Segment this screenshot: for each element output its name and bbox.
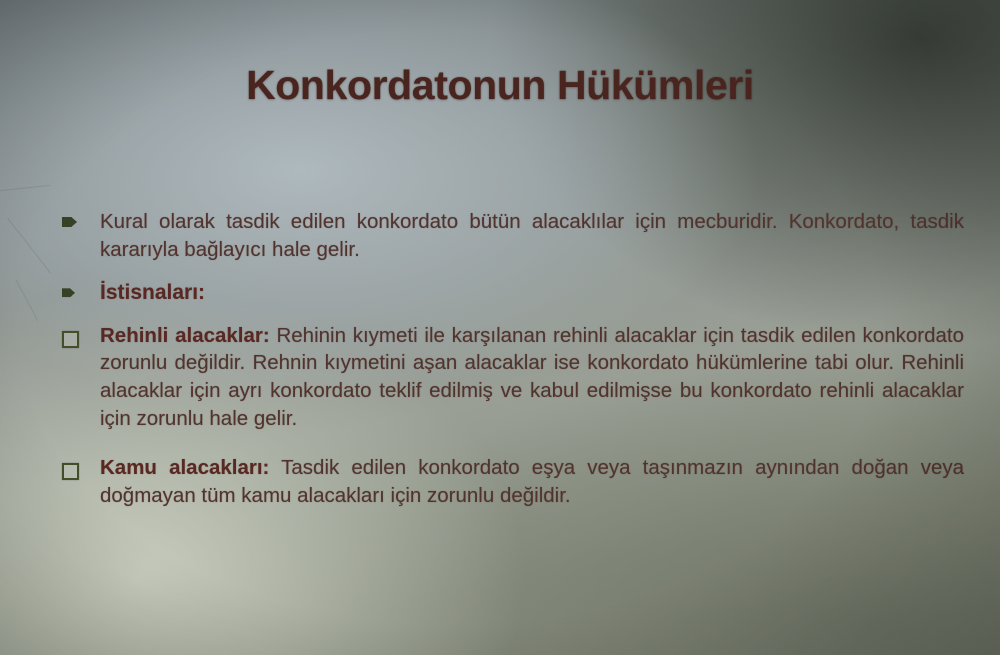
projected-slide-photo: Konkordatonun Hükümleri Kural olarak tas… [0,0,1000,655]
bullet-item-public-claims: Kamu alacakları: Tasdik edilen konkordat… [62,454,964,509]
arrow-bullet-icon [62,288,75,297]
bullet-text-public-claims: Kamu alacakları: Tasdik edilen konkordat… [100,454,964,509]
bullet-lead-public-claims: Kamu alacakları: [100,456,269,479]
square-bullet-icon [62,463,79,480]
bullet-marker-cell [62,279,100,297]
bullet-item-general-rule: Kural olarak tasdik edilen konkordato bü… [62,208,964,263]
slide-title: Konkordatonun Hükümleri [0,62,1000,109]
square-bullet-icon [62,331,79,348]
bullet-marker-cell [62,322,100,348]
bullet-text-general-rule: Kural olarak tasdik edilen konkordato bü… [100,208,964,263]
bullet-item-exceptions-heading: İstisnaları: [62,279,964,307]
slide-content: Konkordatonun Hükümleri Kural olarak tas… [0,0,1000,655]
bullet-item-pledged-claims: Rehinli alacaklar: Rehinin kıymeti ile k… [62,322,964,433]
bullet-list: Kural olarak tasdik edilen konkordato bü… [62,208,964,522]
bullet-marker-cell [62,454,100,480]
bullet-text-pledged-claims: Rehinli alacaklar: Rehinin kıymeti ile k… [100,322,964,433]
bullet-lead-pledged-claims: Rehinli alacaklar: [100,324,270,347]
bullet-text-exceptions-heading: İstisnaları: [100,279,964,307]
bullet-marker-cell [62,208,100,227]
arrow-bullet-icon [62,217,77,227]
